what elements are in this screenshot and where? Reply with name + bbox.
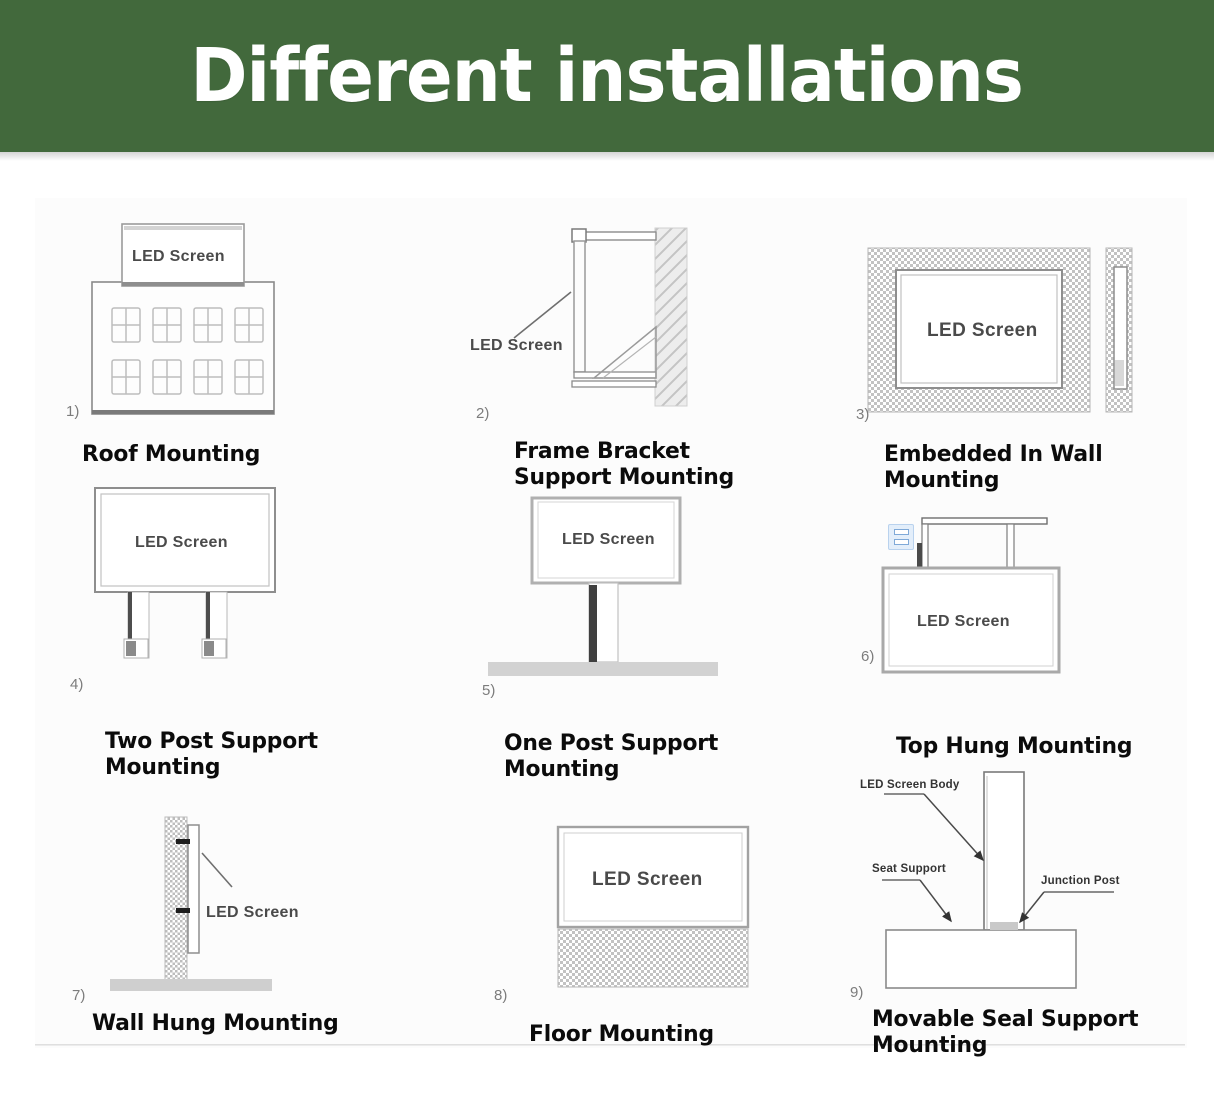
slide-page: Different installations [0, 0, 1214, 1101]
screen-label-4: LED Screen [135, 534, 228, 551]
one-post-support-diagram: LED Screen [470, 490, 770, 685]
movable-seal-support-diagram: LED Screen Body Seat Support Junction Po… [848, 762, 1168, 1007]
figure-cell-roof-mounting: LED Screen [60, 210, 440, 460]
caption-one-post: One Post Support Mounting [504, 730, 718, 782]
caption-frame-bracket: Frame Bracket Support Mounting [514, 438, 734, 490]
header-shadow [0, 152, 1214, 161]
figure-index-4: 4) [70, 676, 83, 693]
figure-index-1: 1) [66, 403, 79, 420]
wall-hung-mounting-diagram: LED Screen [60, 795, 360, 995]
caption-two-post: Two Post Support Mounting [105, 728, 318, 780]
page-title: Different installations [191, 39, 1024, 113]
screen-label-6: LED Screen [917, 613, 1010, 630]
caption-wall-hung: Wall Hung Mounting [92, 1010, 339, 1036]
caption-embedded-wall: Embedded In Wall Mounting [884, 441, 1102, 493]
callout-junction-post: Junction Post [1041, 875, 1120, 887]
figure-index-8: 8) [494, 987, 507, 1004]
figure-cell-two-post: LED Screen 4) [60, 480, 440, 700]
screen-label-7: LED Screen [206, 904, 299, 921]
screen-label-5: LED Screen [562, 531, 655, 548]
callout-led-screen-body: LED Screen Body [860, 779, 960, 791]
figure-index-5: 5) [482, 682, 495, 699]
figure-index-7: 7) [72, 987, 85, 1004]
figure-cell-wall-hung: LED Screen 7) [60, 795, 440, 1010]
embedded-in-wall-diagram: LED Screen [850, 210, 1150, 420]
caption-floor-mounting: Floor Mounting [529, 1021, 714, 1047]
screen-label-8: LED Screen [592, 869, 703, 890]
caption-top-hung: Top Hung Mounting [896, 733, 1132, 759]
floor-mounting-diagram: LED Screen [470, 805, 770, 1000]
screen-label-2: LED Screen [470, 337, 563, 354]
figure-cell-one-post: LED Screen 5) [470, 490, 850, 700]
callout-seat-support: Seat Support [872, 863, 946, 875]
frame-bracket-diagram: LED Screen [470, 210, 770, 420]
screen-label-3: LED Screen [927, 320, 1038, 341]
caption-roof-mounting: Roof Mounting [82, 441, 260, 467]
caption-movable-seal: Movable Seal Support Mounting [872, 1006, 1138, 1058]
broken-image-placeholder-icon [888, 524, 914, 550]
figure-index-3: 3) [856, 406, 869, 423]
roof-mounting-diagram: LED Screen [60, 210, 360, 410]
figure-index-2: 2) [476, 405, 489, 422]
figure-index-9: 9) [850, 984, 863, 1001]
figure-cell-movable-seal: LED Screen Body Seat Support Junction Po… [848, 762, 1214, 1002]
screen-label-1: LED Screen [132, 248, 225, 265]
figure-index-6: 6) [861, 648, 874, 665]
figure-cell-floor-mounting: LED Screen 8) [470, 805, 850, 1005]
figure-cell-embedded-wall: LED Screen 3) [850, 210, 1210, 460]
two-post-support-diagram: LED Screen [60, 480, 360, 680]
header-band: Different installations [0, 0, 1214, 152]
figure-cell-frame-bracket: LED Screen 2) [470, 210, 850, 460]
